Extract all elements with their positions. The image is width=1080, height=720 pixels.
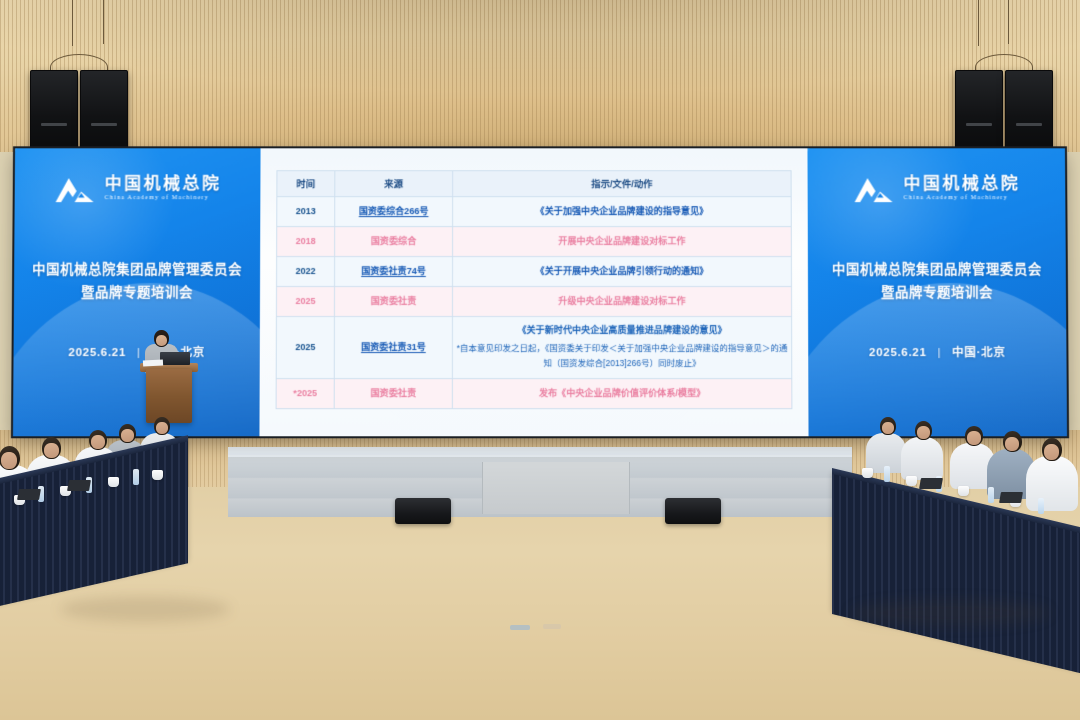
hanging-speaker-right [955,70,1053,156]
attendee-face [156,422,168,434]
column-header-time: 时间 [277,171,335,197]
presenter-face [156,335,167,346]
cell-year: 2025 [276,317,334,379]
cell-source: 国资委综合 [335,227,453,257]
water-bottle [1038,498,1044,514]
brand-name-en: China Academy of Machinery [904,193,1008,203]
ceiling-shadow [0,0,1080,152]
lectern [146,369,192,423]
floor-marker [543,624,561,629]
deck-date: 2025.6.21 [68,347,126,359]
cell-source: 国资委社责 [334,287,452,317]
table-row: 2025 国资委社责 升级中央企业品牌建设对标工作 [276,287,791,317]
deck-title-line2: 暨品牌专题培训会 [822,281,1052,304]
hanging-speaker-left [30,70,128,156]
brand-lockup-right: 中国机械总院 China Academy of Machinery [808,174,1066,204]
attendee-laptop-icon [67,480,91,491]
water-bottle [133,469,139,485]
brand-text-left: 中国机械总院 China Academy of Machinery [105,175,222,202]
attendee-face [1,452,17,469]
speaker-rig-cable [978,0,979,46]
deck-title-line1: 中国机械总院集团品牌管理委员会 [28,258,246,281]
cell-document: 升级中央企业品牌建设对标工作 [452,287,791,317]
attendee-face [91,435,105,449]
teacup [108,477,119,487]
teacup [152,470,163,480]
attendee-face [1005,437,1019,451]
teacup [906,476,917,486]
attendee-face [967,431,981,445]
brand-name-en: China Academy of Machinery [105,193,209,203]
line-array-speaker-icon [955,70,1003,156]
presenter-laptop-icon [160,352,190,365]
speaker-rig-cable [1008,0,1009,44]
deck-meta-separator: | [938,347,942,359]
attendee-face [917,426,930,439]
cell-source: 国资委社责 [334,379,452,409]
attendee-face [882,422,894,434]
attendee-face [44,443,59,458]
cell-source: 国资委社责31号 [334,317,452,379]
slide-panel-right: 中国机械总院 China Academy of Machinery 中国机械总院… [807,148,1067,436]
document-footnote: *自本意见印发之日起，《国资委关于印发＜关于加强中央企业品牌建设的指导意见＞的通… [456,341,788,372]
stage-monitor-speaker-icon [395,498,451,524]
attendee-body [1026,456,1078,511]
table-row: *2025 国资委社责 发布《中央企业品牌价值评价体系/模型》 [276,379,792,409]
line-array-speaker-icon [30,70,78,156]
brand-name-cn: 中国机械总院 [105,175,222,193]
policy-timeline-table: 时间 来源 指示/文件/动作 2013 国资委综合266号 《关于加强中央企业品… [276,170,793,409]
table-row: 2013 国资委综合266号 《关于加强中央企业品牌建设的指导意见》 [277,197,792,227]
attendee-laptop-icon [17,489,41,500]
stage-center-panel [482,462,630,514]
cell-source: 国资委社责74号 [335,257,453,287]
deck-location: 中国·北京 [952,347,1005,359]
slide-panel-center: 时间 来源 指示/文件/动作 2013 国资委综合266号 《关于加强中央企业品… [259,148,808,436]
teacup [958,486,969,496]
presenter-papers [143,359,163,366]
deck-title-line1: 中国机械总院集团品牌管理委员会 [822,258,1052,281]
line-array-speaker-icon [1005,70,1053,156]
attendee-laptop-icon [999,492,1023,503]
table-header-row: 时间 来源 指示/文件/动作 [277,171,791,197]
mountain-logo-icon [852,174,894,204]
deck-title-line2: 暨品牌专题培训会 [28,281,246,304]
cell-document: 《关于新时代中央企业高质量推进品牌建设的意见》 *自本意见印发之日起，《国资委关… [452,317,791,379]
line-array-speaker-icon [80,70,128,156]
teacup [862,468,873,478]
floor-marker [510,625,530,630]
cell-year: 2025 [276,287,334,317]
table-row: 2025 国资委社责31号 《关于新时代中央企业高质量推进品牌建设的意见》 *自… [276,317,792,379]
cell-year: 2018 [277,227,335,257]
cell-document: 开展中央企业品牌建设对标工作 [453,227,792,257]
attendee-laptop-icon [919,478,943,489]
deck-date: 2025.6.21 [869,347,927,359]
cell-year: *2025 [276,379,334,409]
cell-document: 《关于开展中央企业品牌引领行动的通知》 [453,257,792,287]
cell-source: 国资委综合266号 [335,197,453,227]
speaker-rig-cable [72,0,73,46]
table-row: 2018 国资委综合 开展中央企业品牌建设对标工作 [277,227,792,257]
table-row: 2022 国资委社责74号 《关于开展中央企业品牌引领行动的通知》 [277,257,792,287]
slide-panel-left: 中国机械总院 China Academy of Machinery 中国机械总院… [13,148,261,436]
speaker-rig-cable [103,0,104,44]
water-bottle [988,487,994,503]
column-header-source: 来源 [335,171,453,197]
mountain-logo-icon [54,174,96,204]
brand-name-cn: 中国机械总院 [903,175,1020,193]
cell-document: 《关于加强中央企业品牌建设的指导意见》 [453,197,792,227]
brand-text-right: 中国机械总院 China Academy of Machinery [903,175,1020,202]
cell-document: 发布《中央企业品牌价值评价体系/模型》 [452,379,792,409]
cell-year: 2013 [277,197,335,227]
deck-meta-right: 2025.6.21 | 中国·北京 [808,344,1066,360]
attendee-body [901,437,943,480]
brand-lockup-left: 中国机械总院 China Academy of Machinery [15,174,261,204]
column-header-action: 指示/文件/动作 [453,171,792,197]
table-shadow [60,596,230,622]
table-shadow [850,600,1050,626]
water-bottle [884,466,890,482]
attendee-face [121,429,134,442]
deck-title-right: 中国机械总院集团品牌管理委员会 暨品牌专题培训会 [808,258,1066,305]
attendee-face [1044,444,1059,460]
document-title: 《关于新时代中央企业高质量推进品牌建设的意见》 [456,323,788,338]
deck-meta-left: 2025.6.21 | 中国·北京 [14,344,260,360]
deck-meta-separator: | [137,347,141,359]
cell-year: 2022 [277,257,335,287]
stage-monitor-speaker-icon [665,498,721,524]
table-body: 2013 国资委综合266号 《关于加强中央企业品牌建设的指导意见》 2018 … [276,197,792,409]
deck-title-left: 中国机械总院集团品牌管理委员会 暨品牌专题培训会 [14,258,260,305]
conference-room-scene: 中国机械总院 China Academy of Machinery 中国机械总院… [0,0,1080,720]
